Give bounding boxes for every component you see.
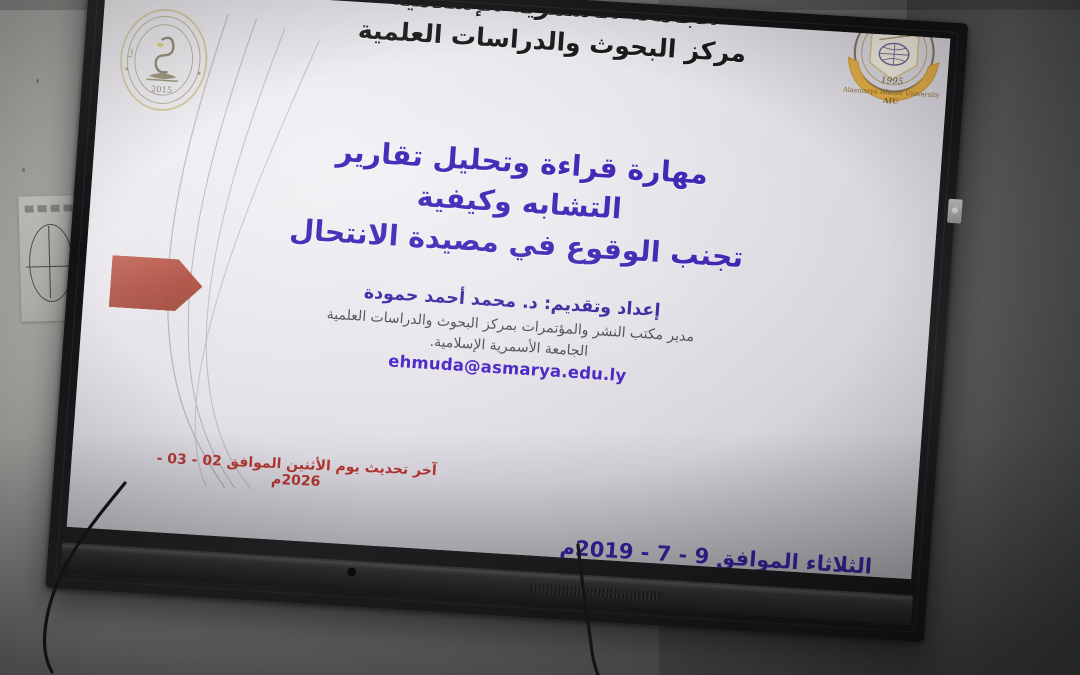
research-center-seal-icon: 2015 مركز البحوث والدراسات العلمية	[109, 1, 219, 119]
room-scene: 1995 Alasmarya Islamic University AIU 2	[0, 0, 1080, 675]
display-bezel: 1995 Alasmarya Islamic University AIU 2	[45, 0, 968, 642]
presentation-slide: 1995 Alasmarya Islamic University AIU 2	[67, 0, 951, 579]
display-screen[interactable]: 1995 Alasmarya Islamic University AIU 2	[67, 0, 951, 579]
event-date: الثلاثاء الموافق 9 - 7 - 2019م	[559, 535, 873, 578]
svg-text:مركز البحوث والدراسات العلمية: مركز البحوث والدراسات العلمية	[109, 1, 138, 59]
interactive-display-panel[interactable]: 1995 Alasmarya Islamic University AIU 2	[45, 0, 968, 642]
wall-blemish	[36, 79, 39, 83]
wall-blemish	[22, 168, 25, 172]
red-chevron-arrow-icon	[109, 255, 205, 313]
svg-text:2015: 2015	[151, 84, 173, 95]
svg-text:AIU: AIU	[882, 96, 900, 106]
last-update-note: آخر تحديث يوم الأثنين الموافق 02 - 03 - …	[130, 450, 462, 497]
mount-bracket-tab-icon	[947, 199, 963, 224]
presenter-block: إعداد وتقديم: د. محمد أحمد حمودة مدير مك…	[294, 277, 726, 391]
slide-header: الجامعة الأسمرية الإسلامية مركز البحوث و…	[252, 0, 854, 77]
paper-notice-heading-lines	[25, 204, 73, 212]
slide-title: مهارة قراءة وتحليل تقارير التشابه وكيفية…	[287, 129, 751, 278]
svg-text:1995: 1995	[880, 76, 904, 87]
ir-sensor-icon	[347, 567, 357, 577]
speaker-grille-icon	[530, 584, 660, 601]
